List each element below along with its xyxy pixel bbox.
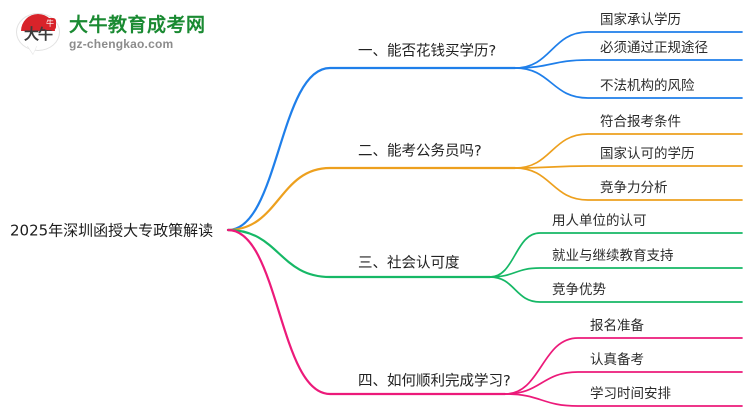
mindmap-leaf-label-3-3[interactable]: 竞争优势 bbox=[552, 278, 606, 298]
leaf-connector-2-2 bbox=[515, 166, 742, 168]
mindmap-leaf-label-1-2[interactable]: 必须通过正规途径 bbox=[600, 36, 708, 56]
mindmap-leaf-label-4-2[interactable]: 认真备考 bbox=[590, 348, 644, 368]
leaf-connector-1-2 bbox=[515, 60, 742, 68]
mindmap-leaf-label-2-2[interactable]: 国家认可的学历 bbox=[600, 142, 695, 162]
mindmap-branch-label-2[interactable]: 二、能考公务员吗? bbox=[358, 140, 482, 161]
mindmap-leaf-label-2-1[interactable]: 符合报考条件 bbox=[600, 110, 681, 130]
leaf-connector-3-2 bbox=[490, 268, 742, 277]
mindmap-branch-label-3[interactable]: 三、社会认可度 bbox=[358, 252, 460, 273]
mindmap-leaf-label-4-3[interactable]: 学习时间安排 bbox=[590, 382, 671, 402]
mindmap-root-label: 2025年深圳函授大专政策解读 bbox=[10, 220, 213, 241]
branch-connector-2 bbox=[228, 168, 515, 230]
mindmap-leaf-label-3-1[interactable]: 用人单位的认可 bbox=[552, 209, 647, 229]
mindmap-leaf-label-1-3[interactable]: 不法机构的风险 bbox=[600, 74, 695, 94]
mindmap-leaf-label-3-2[interactable]: 就业与继续教育支持 bbox=[552, 244, 674, 264]
mindmap-leaf-label-1-1[interactable]: 国家承认学历 bbox=[600, 8, 681, 28]
mindmap-canvas: 2025年深圳函授大专政策解读一、能否花钱买学历?国家承认学历必须通过正规途径不… bbox=[0, 0, 750, 410]
mindmap-branch-label-1[interactable]: 一、能否花钱买学历? bbox=[358, 40, 496, 61]
mindmap-branch-label-4[interactable]: 四、如何顺利完成学习? bbox=[358, 370, 511, 391]
mindmap-leaf-label-2-3[interactable]: 竞争力分析 bbox=[600, 176, 668, 196]
mindmap-leaf-label-4-1[interactable]: 报名准备 bbox=[590, 314, 644, 334]
leaf-connector-3-3 bbox=[490, 277, 742, 302]
